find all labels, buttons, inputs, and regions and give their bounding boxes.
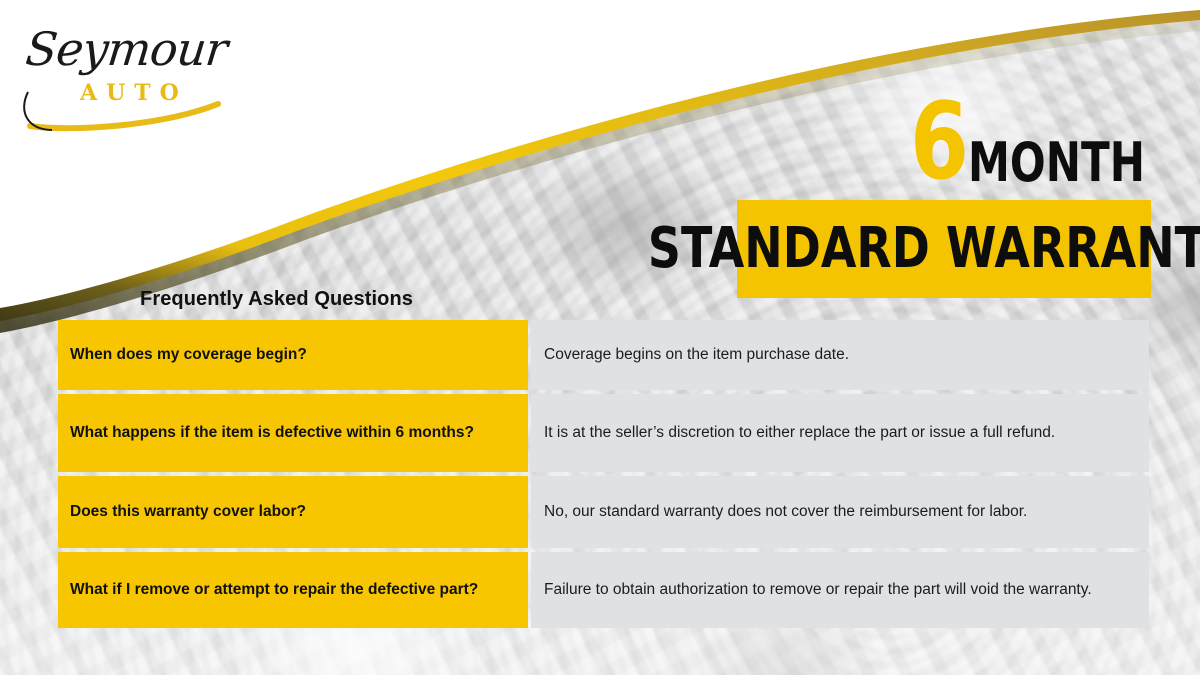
table-row: Does this warranty cover labor? No, our … [58,476,1149,548]
duration-headline: 6 MONTH [910,76,1195,186]
faq-answer-cell: Coverage begins on the item purchase dat… [531,320,1149,390]
seymour-auto-logo: Seymour AUTO [22,20,232,132]
duration-unit: MONTH [968,140,1145,186]
faq-answer-cell: No, our standard warranty does not cover… [531,476,1149,548]
faq-question-cell: What happens if the item is defective wi… [58,394,528,472]
table-row: What if I remove or attempt to repair th… [58,552,1149,628]
warranty-title-text: STANDARD WARRANTY [648,221,1200,277]
warranty-title-banner: STANDARD WARRANTY [737,200,1151,298]
faq-table: When does my coverage begin? Coverage be… [58,320,1149,628]
logo-underline-swoosh-icon [22,86,232,136]
faq-answer-cell: Failure to obtain authorization to remov… [531,552,1149,628]
table-row: What happens if the item is defective wi… [58,394,1149,472]
logo-script-text: Seymour [23,22,229,76]
faq-question-cell: When does my coverage begin? [58,320,528,390]
faq-question-cell: What if I remove or attempt to repair th… [58,552,528,628]
table-row: When does my coverage begin? Coverage be… [58,320,1149,390]
duration-number: 6 [910,99,967,186]
faq-heading: Frequently Asked Questions [140,288,413,311]
faq-answer-cell: It is at the seller’s discretion to eith… [531,394,1149,472]
faq-question-cell: Does this warranty cover labor? [58,476,528,548]
warranty-slide: Seymour AUTO 6 MONTH STANDARD WARRANTY F… [0,0,1200,675]
